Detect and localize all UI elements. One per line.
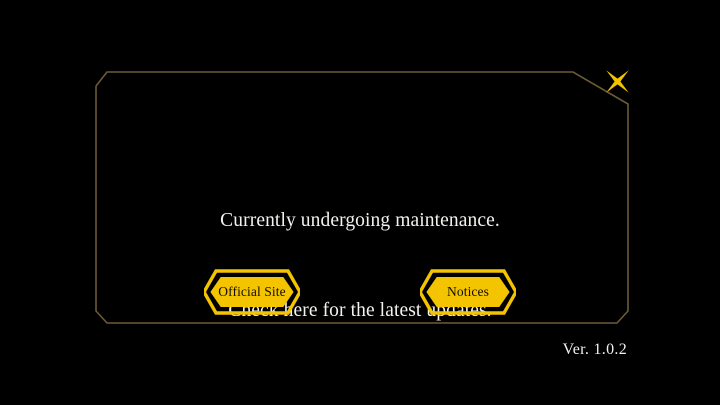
message-line-2: Check here for the latest updates. [0,296,720,326]
notices-button-shape [420,268,516,316]
maintenance-screen: Currently undergoing maintenance. Check … [0,0,720,405]
version-label: Ver. 1.0.2 [563,341,627,359]
close-x-icon [603,67,632,96]
notices-button[interactable]: Notices [420,268,516,316]
message-line-1: Currently undergoing maintenance. [0,206,720,236]
official-site-button[interactable]: Official Site [204,268,300,316]
close-button[interactable] [603,67,632,96]
official-site-button-shape [204,268,300,316]
